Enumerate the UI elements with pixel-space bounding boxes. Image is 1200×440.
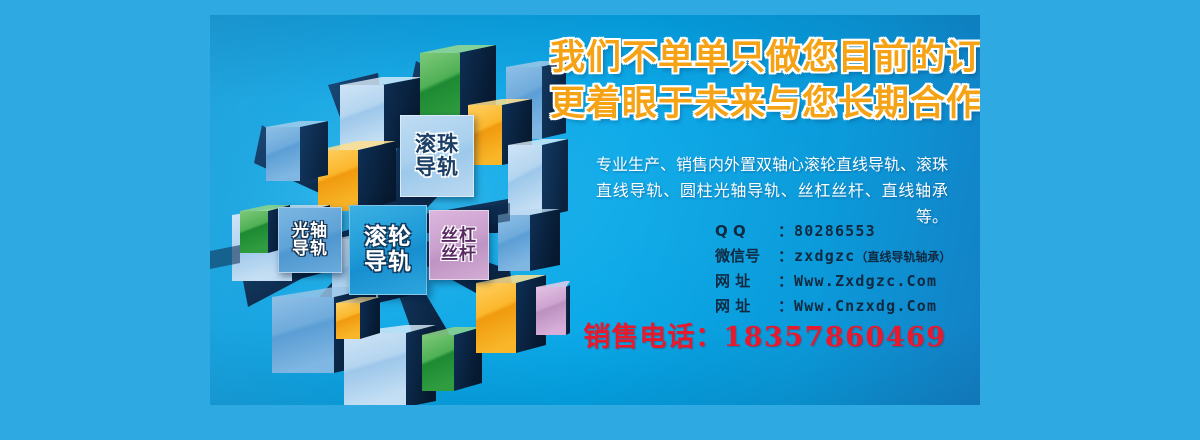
contact-colon-website-2: ：: [778, 295, 793, 316]
banner-content-column: 我们不单单只做您目前的订单 更着眼于未来与您长期合作 专业生产、销售内外置双轴心…: [550, 15, 980, 405]
promo-banner: 滚珠 导轨 光轴 导轨 滚轮 导轨 丝杠 丝杆 我们不单单只做您目前的订单 更着…: [210, 15, 980, 405]
cube-label-guangzhou-daogui[interactable]: 光轴 导轨: [278, 207, 342, 273]
contact-row-wechat: 微信号 ： zxdgzc （直线导轨轴承）: [550, 245, 980, 266]
cube-label-guangzhou-line1: 光轴: [292, 222, 328, 240]
description-text: 专业生产、销售内外置双轴心滚轮直线导轨、滚珠直线导轨、圆柱光轴导轨、丝杠丝杆、直…: [596, 152, 948, 230]
contact-value-wechat[interactable]: zxdgzc: [794, 247, 855, 265]
contact-block: Q Q ： 80286553 微信号 ： zxdgzc （直线导轨轴承） 网 址…: [550, 220, 980, 320]
contact-value-website-1[interactable]: Www.Zxdgzc.Com: [794, 272, 937, 290]
cube-label-gunzhu-line2: 导轨: [415, 156, 459, 179]
contact-label-website-1: 网 址: [715, 270, 777, 291]
cube-cluster-artwork: 滚珠 导轨 光轴 导轨 滚轮 导轨 丝杠 丝杆: [210, 15, 570, 405]
contact-colon-qq: ：: [778, 220, 793, 241]
contact-note-wechat: （直线导轨轴承）: [855, 248, 951, 265]
contact-row-website-2: 网 址 ： Www.Cnzxdg.Com: [550, 295, 980, 316]
cube-label-sigang-line2: 丝杆: [441, 245, 477, 263]
cube-label-gunzhu-daogui[interactable]: 滚珠 导轨: [400, 115, 474, 197]
sales-phone-number[interactable]: 18357860469: [723, 322, 946, 353]
contact-value-qq[interactable]: 80286553: [794, 222, 876, 240]
contact-row-qq: Q Q ： 80286553: [550, 220, 980, 241]
contact-value-website-2[interactable]: Www.Cnzxdg.Com: [794, 297, 937, 315]
contact-colon-wechat: ：: [778, 245, 793, 266]
contact-label-wechat: 微信号: [715, 245, 777, 266]
sales-phone[interactable]: 销售电话：18357860469: [550, 315, 980, 354]
contact-colon-website-1: ：: [778, 270, 793, 291]
headline-line-2: 更着眼于未来与您长期合作: [550, 83, 980, 127]
contact-label-website-2: 网 址: [715, 295, 777, 316]
cube-label-gunzhu-line1: 滚珠: [415, 133, 459, 156]
cube-label-gunlun-line2: 导轨: [364, 250, 412, 275]
contact-label-qq: Q Q: [715, 222, 777, 240]
sales-phone-label: 销售电话：: [583, 322, 723, 353]
cube-label-gunlun-daogui[interactable]: 滚轮 导轨: [349, 205, 427, 295]
contact-row-website-1: 网 址 ： Www.Zxdgzc.Com: [550, 270, 980, 291]
cube-label-gunlun-line1: 滚轮: [364, 225, 412, 250]
cube-label-sigang-line1: 丝杠: [441, 227, 477, 245]
banner-stage: 滚珠 导轨 光轴 导轨 滚轮 导轨 丝杠 丝杆 我们不单单只做您目前的订单 更着…: [0, 0, 1200, 440]
headline-line-1: 我们不单单只做您目前的订单: [550, 37, 980, 81]
headline: 我们不单单只做您目前的订单 更着眼于未来与您长期合作: [550, 37, 980, 127]
cube-label-guangzhou-line2: 导轨: [292, 240, 328, 258]
cube-label-sigang-sigan[interactable]: 丝杠 丝杆: [429, 210, 489, 280]
